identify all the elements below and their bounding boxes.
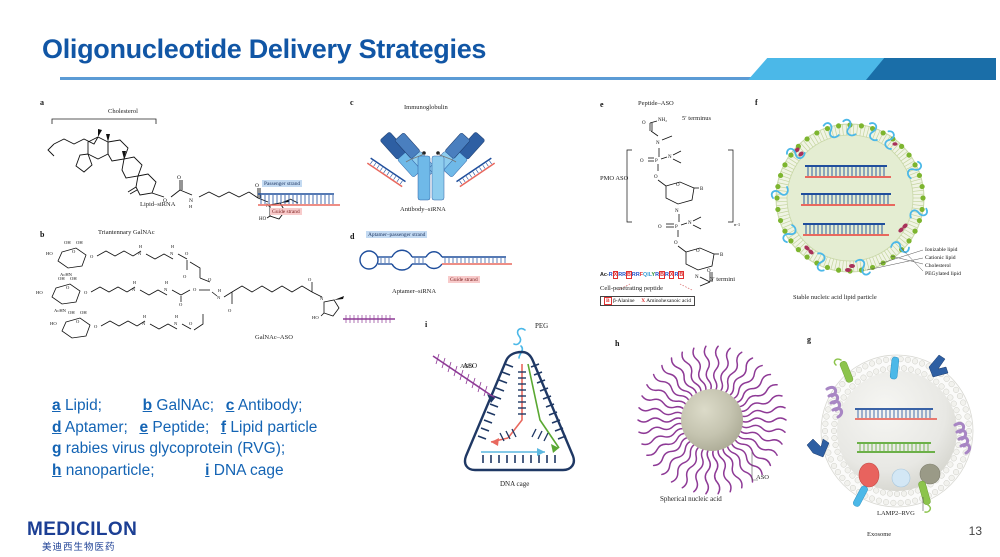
legend-line-1: a Lipid; b GalNAc; c Antibody; [52, 395, 317, 417]
panel-g-structure [805, 335, 995, 525]
svg-text:N: N [668, 155, 672, 160]
svg-text:O: O [179, 302, 183, 307]
legend-text-d: Aptamer; [65, 419, 128, 436]
svg-text:O: O [707, 269, 711, 274]
svg-text:O: O [255, 183, 259, 189]
svg-text:HO: HO [259, 217, 267, 222]
svg-text:O: O [185, 251, 189, 256]
legend-text-e: Peptide; [152, 419, 209, 436]
svg-text:O: O [94, 324, 98, 329]
svg-text:O: O [177, 175, 181, 181]
panel-c-caption: Antibody–siRNA [400, 206, 446, 213]
svg-text:H: H [171, 244, 174, 249]
passenger-strand-tag: Passenger strand [262, 180, 302, 187]
panel-b-caption: GalNAc–ASO [255, 334, 293, 341]
header-rule [60, 77, 760, 80]
svg-text:OH: OH [64, 240, 71, 245]
panel-d-guide-tag: Guide strand [448, 276, 480, 283]
svg-text:O: O [696, 249, 700, 254]
key-symbol-b: B [604, 297, 612, 305]
legend-text-c: Antibody; [238, 397, 303, 414]
panel-d-aptamer: d Aptamer–passenger strand [350, 232, 520, 302]
panel-i-dna-cage: i PEG ASO [425, 320, 610, 515]
svg-text:N: N [675, 209, 679, 214]
svg-text:AcHN: AcHN [54, 308, 67, 313]
page-title: Oligonucleotide Delivery Strategies [42, 34, 486, 65]
page-number: 13 [969, 524, 982, 538]
panel-a-caption: Lipid–siRNA [140, 201, 175, 208]
panel-f-legend: Ionizable lipid Cationic lipid Cholester… [925, 246, 961, 278]
panel-h-label: h [615, 339, 619, 348]
panel-c-structure [350, 98, 515, 223]
legend-letter-h: h [52, 462, 61, 479]
panel-b-galnac: b Triantennary GalNAc OH OH HO O AcHN O … [40, 230, 350, 345]
svg-text:O: O [208, 277, 212, 282]
legend-text-g: rabies virus glycoprotein (RVG); [66, 440, 285, 457]
svg-text:N: N [174, 321, 178, 326]
legend-text-i: DNA cage [214, 462, 284, 479]
svg-text:B: B [700, 187, 704, 192]
svg-text:H: H [218, 288, 221, 293]
panel-e-structure: O NH₂ N n-1 O P N O [600, 100, 765, 315]
panel-h-structure [630, 332, 810, 517]
legend-letter-b: b [143, 397, 152, 414]
svg-text:OH: OH [70, 276, 77, 281]
panel-g-exosome: g [805, 335, 995, 525]
panel-e-peptide: e Peptide–ASO PMO ASO 5′ terminus 3′ ter… [600, 100, 765, 315]
svg-text:O: O [84, 290, 88, 295]
panel-f-lipid-particle: f [755, 98, 1000, 313]
panel-a-lipid: a Cholesterol O O [40, 98, 340, 223]
svg-text:O: O [66, 285, 70, 290]
legend-text-a: Lipid; [65, 397, 102, 414]
svg-text:N: N [688, 221, 692, 226]
key-name-x: Aminohexanoic acid [646, 298, 691, 304]
panel-b-structure: OH OH HO O AcHN O H N H N O O O [40, 230, 350, 345]
medicilon-logo: MEDICILON [27, 519, 137, 541]
key-name-b: β-Alanine [613, 298, 635, 304]
panel-c-antibody: c Immunoglobulin [350, 98, 515, 223]
legend-letter-a: a [52, 397, 61, 414]
panel-f-caption: Stable nucleic acid lipid particle [793, 294, 877, 301]
panel-i-caption: DNA cage [500, 480, 529, 488]
svg-text:H: H [133, 280, 136, 285]
svg-text:N: N [164, 287, 168, 292]
legend-text-f: Lipid particle [230, 419, 317, 436]
panel-h-nanoparticle: h ASO Spherical nucleic acid [630, 332, 810, 517]
legend-line-4: h nanoparticle; i DNA cage [52, 460, 317, 482]
svg-text:O: O [90, 254, 94, 259]
svg-text:HO: HO [312, 315, 319, 320]
svg-text:N: N [656, 141, 660, 146]
svg-text:NH₂: NH₂ [658, 118, 667, 123]
svg-text:OH: OH [80, 310, 87, 315]
guide-strand-tag: Guide strand [270, 208, 302, 215]
legend-text-b: GalNAc; [156, 397, 214, 414]
medicilon-logo-subtitle: 美迪西生物医药 [42, 539, 116, 553]
panel-h-aso-label: ASO [756, 474, 769, 481]
panel-g-caption: Exosome [867, 531, 891, 538]
svg-text:HO: HO [46, 251, 53, 256]
svg-text:B: B [720, 253, 724, 258]
svg-text:OH: OH [68, 310, 75, 315]
panel-h-caption: Spherical nucleic acid [660, 495, 722, 503]
svg-text:OH: OH [58, 276, 65, 281]
legend-letter-c: c [226, 397, 235, 414]
legend-letter-e: e [139, 419, 148, 436]
svg-text:O: O [640, 159, 644, 164]
svg-text:O: O [674, 241, 678, 246]
svg-text:O: O [72, 249, 76, 254]
panel-g-protein-label: LAMP2–RVG [877, 510, 915, 517]
panel-e-cpp-label: Cell-penetrating peptide [600, 285, 663, 292]
svg-text:H: H [143, 314, 146, 319]
svg-text:OH: OH [76, 240, 83, 245]
svg-text:HO: HO [36, 290, 43, 295]
legend-cationic-lipid: Cationic lipid [925, 254, 961, 262]
panel-a-sirna-duplex: Passenger strand Guide strand [256, 190, 346, 216]
svg-text:O: O [654, 175, 658, 180]
legend-line-3: g rabies virus glycoprotein (RVG); [52, 438, 317, 460]
legend-letter-f: f [221, 419, 226, 436]
svg-text:N: N [138, 251, 142, 256]
svg-text:H: H [165, 280, 168, 285]
svg-text:P: P [655, 159, 658, 164]
figure-legend: a Lipid; b GalNAc; c Antibody; d Aptamer… [52, 395, 317, 481]
panel-b-aso-strand [343, 312, 401, 326]
panel-e-key-box: B β-Alanine X Aminohexanoic acid [600, 296, 695, 306]
svg-text:P: P [675, 225, 678, 230]
svg-text:H: H [175, 314, 178, 319]
svg-text:n-1: n-1 [734, 222, 741, 227]
svg-text:O: O [676, 183, 680, 188]
svg-text:N: N [132, 287, 136, 292]
accent-bar-dark [866, 58, 996, 80]
legend-letter-g: g [52, 440, 61, 457]
panel-d-label: d [350, 232, 354, 241]
panel-d-structure [358, 246, 518, 278]
svg-text:N: N [320, 296, 324, 301]
legend-line-2: d Aptamer; e Peptide; f Lipid particle [52, 417, 317, 439]
legend-pegylated-lipid: PEGylated lipid [925, 270, 961, 278]
legend-letter-d: d [52, 419, 61, 436]
legend-text-h: nanoparticle; [66, 462, 155, 479]
svg-text:O: O [658, 225, 662, 230]
svg-text:N: N [170, 251, 174, 256]
key-symbol-x: X [641, 298, 645, 304]
svg-text:O: O [189, 321, 193, 326]
svg-text:N: N [695, 275, 699, 280]
aptamer-passenger-tag: Aptamer–passenger strand [366, 231, 427, 238]
svg-text:HO: HO [50, 321, 57, 326]
svg-text:O: O [308, 277, 312, 282]
svg-text:N: N [217, 295, 221, 300]
legend-letter-i: i [205, 462, 209, 479]
legend-cholesterol: Cholesterol [925, 262, 961, 270]
svg-text:H: H [189, 204, 193, 209]
svg-text:O: O [193, 287, 197, 292]
legend-ionizable-lipid: Ionizable lipid [925, 246, 961, 254]
panel-f-structure [755, 98, 1000, 313]
svg-text:H: H [139, 244, 142, 249]
svg-text:O: O [642, 121, 646, 126]
panel-e-peptide-sequence: Ac-RXRRBRRFQILYRBRXRB [600, 272, 684, 278]
svg-text:O: O [183, 274, 187, 279]
svg-text:N: N [142, 321, 146, 326]
svg-text:O: O [76, 319, 80, 324]
panel-d-caption: Aptamer–siRNA [392, 288, 436, 295]
svg-text:O: O [228, 308, 232, 313]
